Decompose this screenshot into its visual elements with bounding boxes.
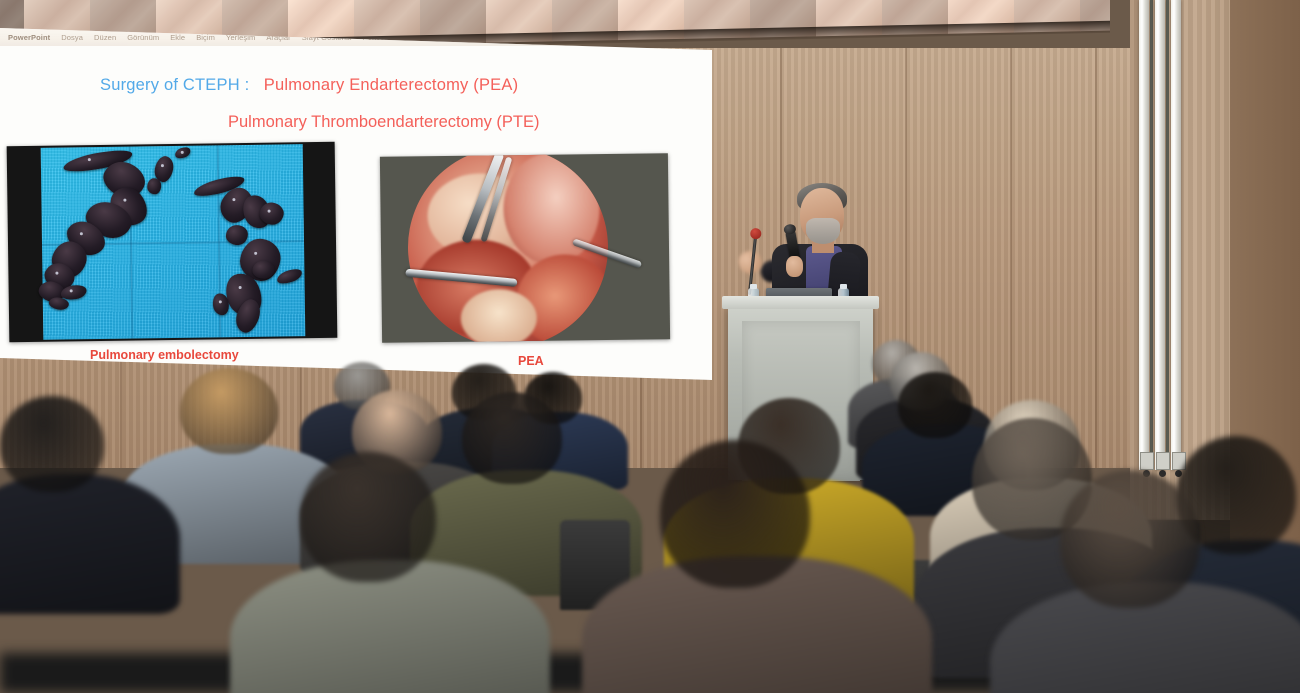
slide-title: Surgery of CTEPH : Pulmonary Endarterect… <box>100 76 518 95</box>
audience-member-head <box>898 372 972 438</box>
caption-left: Pulmonary embolectomy <box>90 348 239 362</box>
specimen-highlight <box>80 232 83 235</box>
caption-right: PEA <box>518 354 544 368</box>
bottle-cap-right <box>840 284 847 289</box>
presentation-photo: PowerPoint Dosya Düzen Görünüm Ekle Biçi… <box>0 0 1300 693</box>
speaker-left-hand <box>786 256 803 277</box>
microphone-head <box>783 223 797 235</box>
speaker-beard <box>806 218 840 244</box>
specimen-highlight <box>123 199 126 202</box>
embolus-specimen <box>147 178 161 194</box>
slide-image-pulmonary-embolectomy <box>7 142 338 343</box>
specimen-highlight <box>254 251 257 254</box>
endoscopic-field <box>407 153 609 343</box>
wall-panel-joint <box>1095 48 1097 468</box>
projection-screen: PowerPoint Dosya Düzen Görünüm Ekle Biçi… <box>0 28 712 380</box>
audience-member-head <box>1060 470 1200 608</box>
bottle-cap-left <box>750 284 757 289</box>
specimen-highlight <box>218 300 221 303</box>
specimen-highlight <box>232 198 235 201</box>
audience-member-head <box>300 452 436 582</box>
partition-track-gap-2 <box>1166 0 1169 470</box>
audience-member-head <box>0 396 104 492</box>
audience-member-head <box>180 368 278 454</box>
menu-item-duzen[interactable]: Düzen <box>94 33 116 42</box>
slide-title-prefix: Surgery of CTEPH : <box>100 76 249 94</box>
menubar-app-name[interactable]: PowerPoint <box>8 33 50 42</box>
embolus-specimen <box>252 261 274 279</box>
slide-image-pea-operative-view <box>380 153 670 343</box>
specimen-highlight <box>180 151 183 154</box>
slide-subtitle: Pulmonary Thromboendarterectomy (PTE) <box>228 113 539 132</box>
specimen-highlight <box>87 158 90 161</box>
menu-item-ekle[interactable]: Ekle <box>170 33 185 42</box>
track-foot-2 <box>1156 452 1170 470</box>
slide-title-main: Pulmonary Endarterectomy (PEA) <box>264 76 519 94</box>
podium-top-surface <box>722 296 879 309</box>
partition-track-gap-1 <box>1150 0 1153 470</box>
audience-member-shoulders <box>0 474 180 614</box>
menu-item-dosya[interactable]: Dosya <box>61 33 83 42</box>
partition-track-1 <box>1139 0 1149 470</box>
specimen-highlight <box>55 271 58 274</box>
audience-member-head <box>462 392 562 484</box>
partition-track-2 <box>1155 0 1165 470</box>
audience-member-head <box>660 440 810 588</box>
partition-track-3 <box>1171 0 1181 470</box>
track-foot-1 <box>1140 452 1154 470</box>
menu-item-gorunum[interactable]: Görünüm <box>127 33 159 42</box>
embolus-specimen <box>226 225 248 245</box>
audience-member-shoulders <box>230 560 550 693</box>
